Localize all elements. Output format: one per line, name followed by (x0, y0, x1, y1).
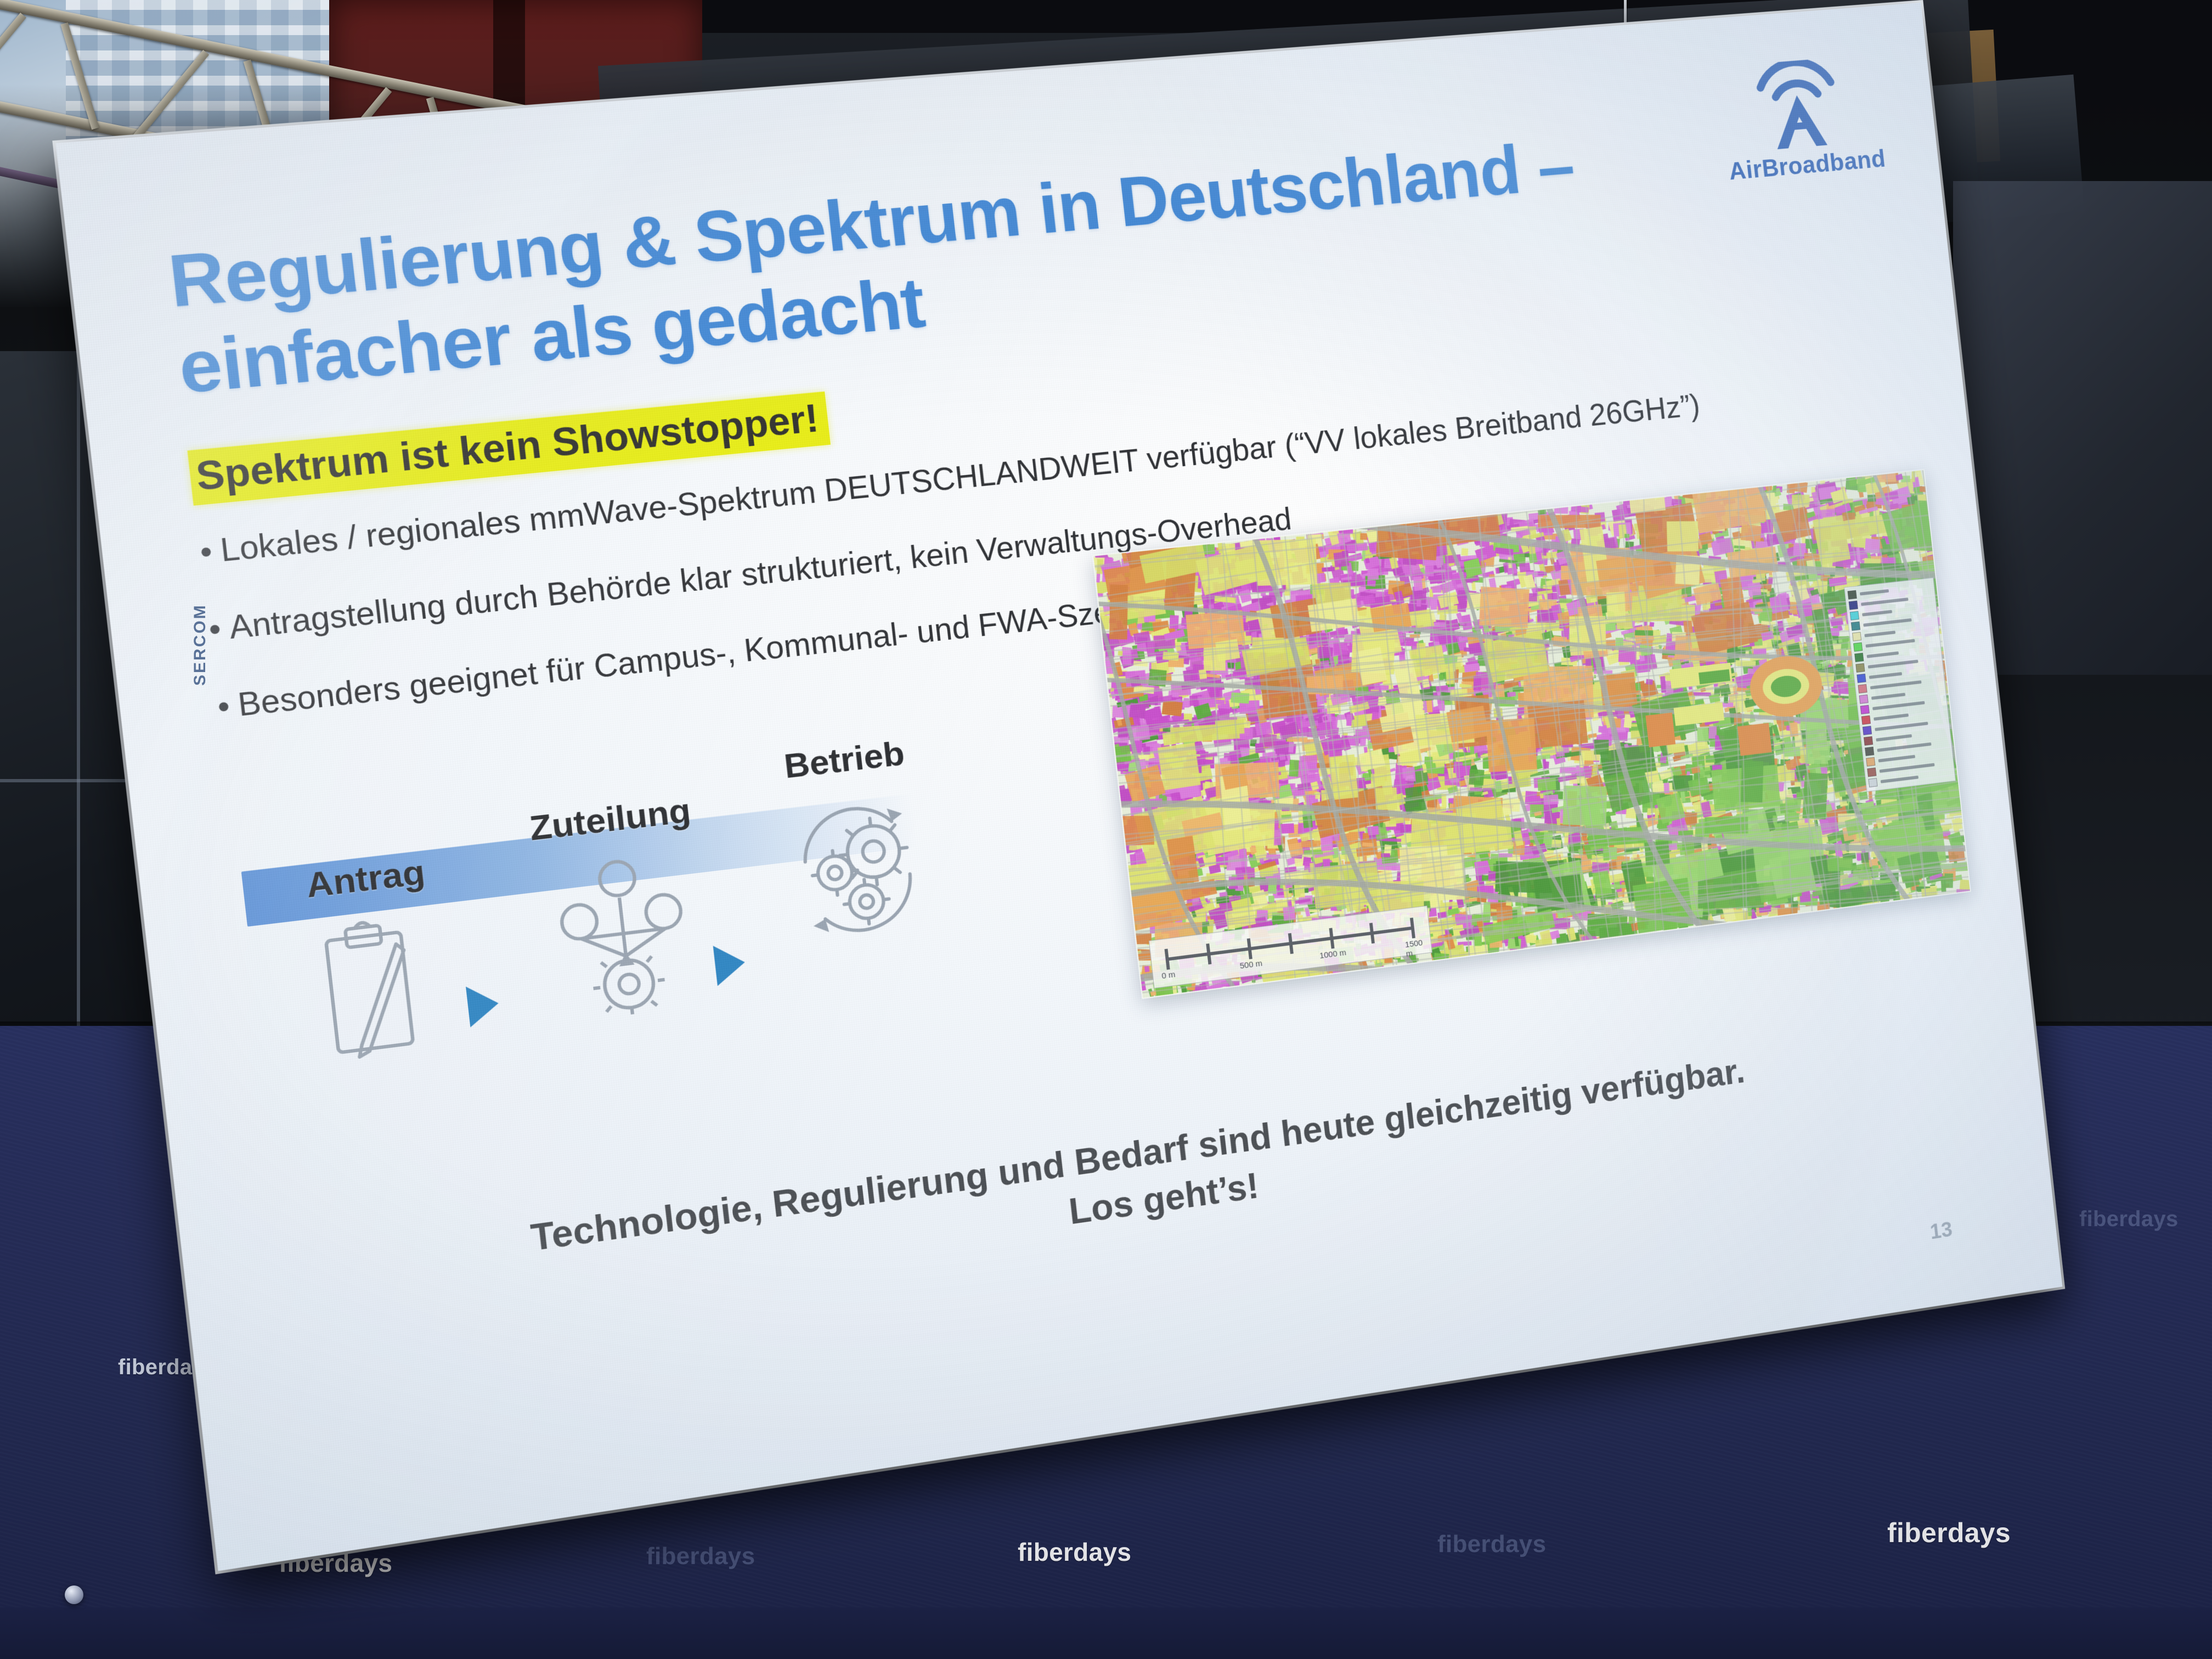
fiberdays-watermark: fiberdays (2079, 1207, 2179, 1232)
sercom-frame-label: SERCOM (191, 603, 210, 686)
bullet-dot: • (198, 533, 214, 571)
wifi-antenna-a-icon (1743, 57, 1853, 154)
process-step-label: Zuteilung (492, 786, 727, 853)
legend-label (1881, 776, 1918, 783)
legend-swatch (1861, 715, 1871, 725)
legend-swatch (1857, 674, 1866, 683)
legend-swatch (1863, 726, 1872, 735)
legend-label (1878, 755, 1916, 763)
brand-name: AirBroadband (1728, 144, 1881, 185)
legend-swatch (1854, 653, 1864, 662)
legend-label (1875, 722, 1928, 731)
legend-label (1868, 659, 1918, 668)
legend-swatch (1864, 736, 1873, 746)
legend-label (1865, 639, 1915, 648)
legend-label (1871, 693, 1905, 700)
legend-label (1872, 701, 1925, 710)
legend-swatch (1850, 611, 1859, 620)
clipboard-pen-icon (272, 902, 484, 1077)
scale-label: 500 m (1239, 959, 1263, 971)
slide-title: Regulierung & Spektrum in Deutschland – … (165, 112, 1754, 411)
fiberdays-watermark: fiberdays (646, 1543, 755, 1570)
bullet-dot: • (216, 687, 232, 725)
legend-label (1877, 742, 1931, 752)
legend-swatch (1859, 695, 1869, 704)
conclusion-line2: Los geht’s! (326, 1069, 1928, 1341)
scale-tick (1410, 918, 1415, 939)
coverage-landuse-map: 0 m500 m1000 m1500 m (1092, 469, 1971, 999)
legend-label (1863, 618, 1911, 627)
scale-label: 0 m (1161, 970, 1176, 981)
presentation-slide: AirBroadband Regulierung & Spektrum in D… (55, 3, 2062, 1571)
legend-swatch (1853, 642, 1863, 652)
truss-diagonal (60, 22, 99, 130)
fiberdays-watermark: fiberdays (1018, 1537, 1131, 1567)
legend-label (1867, 651, 1899, 658)
floor-light-dot (65, 1585, 83, 1604)
legend-swatch (1858, 684, 1867, 693)
legend-swatch (1868, 778, 1877, 787)
process-arrow (466, 983, 501, 1028)
legend-swatch (1848, 590, 1857, 600)
process-step-antrag: Antrag (266, 848, 484, 1077)
legend-label (1864, 631, 1895, 637)
scale-label: 1000 m (1319, 948, 1346, 961)
legend-label (1870, 680, 1922, 690)
legend-swatch (1867, 768, 1876, 777)
truss-diagonal (0, 13, 26, 102)
process-step-betrieb: Betrieb (741, 729, 966, 964)
legend-label (1862, 610, 1892, 617)
projection-screen: AirBroadband Regulierung & Spektrum in D… (55, 3, 2062, 1571)
fiberdays-watermark: fiberdays (1437, 1531, 1546, 1558)
scale-label: 1500 m (1404, 938, 1424, 958)
legend-label (1860, 589, 1889, 596)
legend-swatch (1866, 757, 1875, 766)
process-step-zuteilung: Zuteilung (492, 786, 748, 1040)
map-canvas (1093, 470, 1970, 998)
legend-label (1861, 597, 1909, 606)
process-step-label: Betrieb (741, 729, 947, 791)
legend-swatch (1851, 622, 1860, 631)
process-diagram: Antrag (236, 731, 1085, 1144)
fiberdays-watermark: fiberdays (1887, 1517, 2011, 1549)
legend-swatch (1855, 663, 1865, 673)
legend-swatch (1865, 747, 1874, 756)
legend-swatch (1852, 632, 1861, 641)
legend-swatch (1849, 601, 1858, 610)
photo-scene: fiberdays fiberdays fiberdays fiberdays … (0, 0, 2212, 1659)
gears-cycle-icon (747, 782, 966, 964)
org-network-gear-icon (499, 840, 748, 1040)
projection-screen-area: AirBroadband Regulierung & Spektrum in D… (181, 66, 2046, 1426)
legend-label (1869, 672, 1902, 679)
process-arrow (713, 942, 747, 986)
stage-floor (0, 1607, 2212, 1659)
legend-swatch (1860, 705, 1870, 714)
page-number: 13 (1929, 1218, 1954, 1245)
legend-label (1876, 734, 1912, 741)
legend-label (1874, 714, 1909, 721)
